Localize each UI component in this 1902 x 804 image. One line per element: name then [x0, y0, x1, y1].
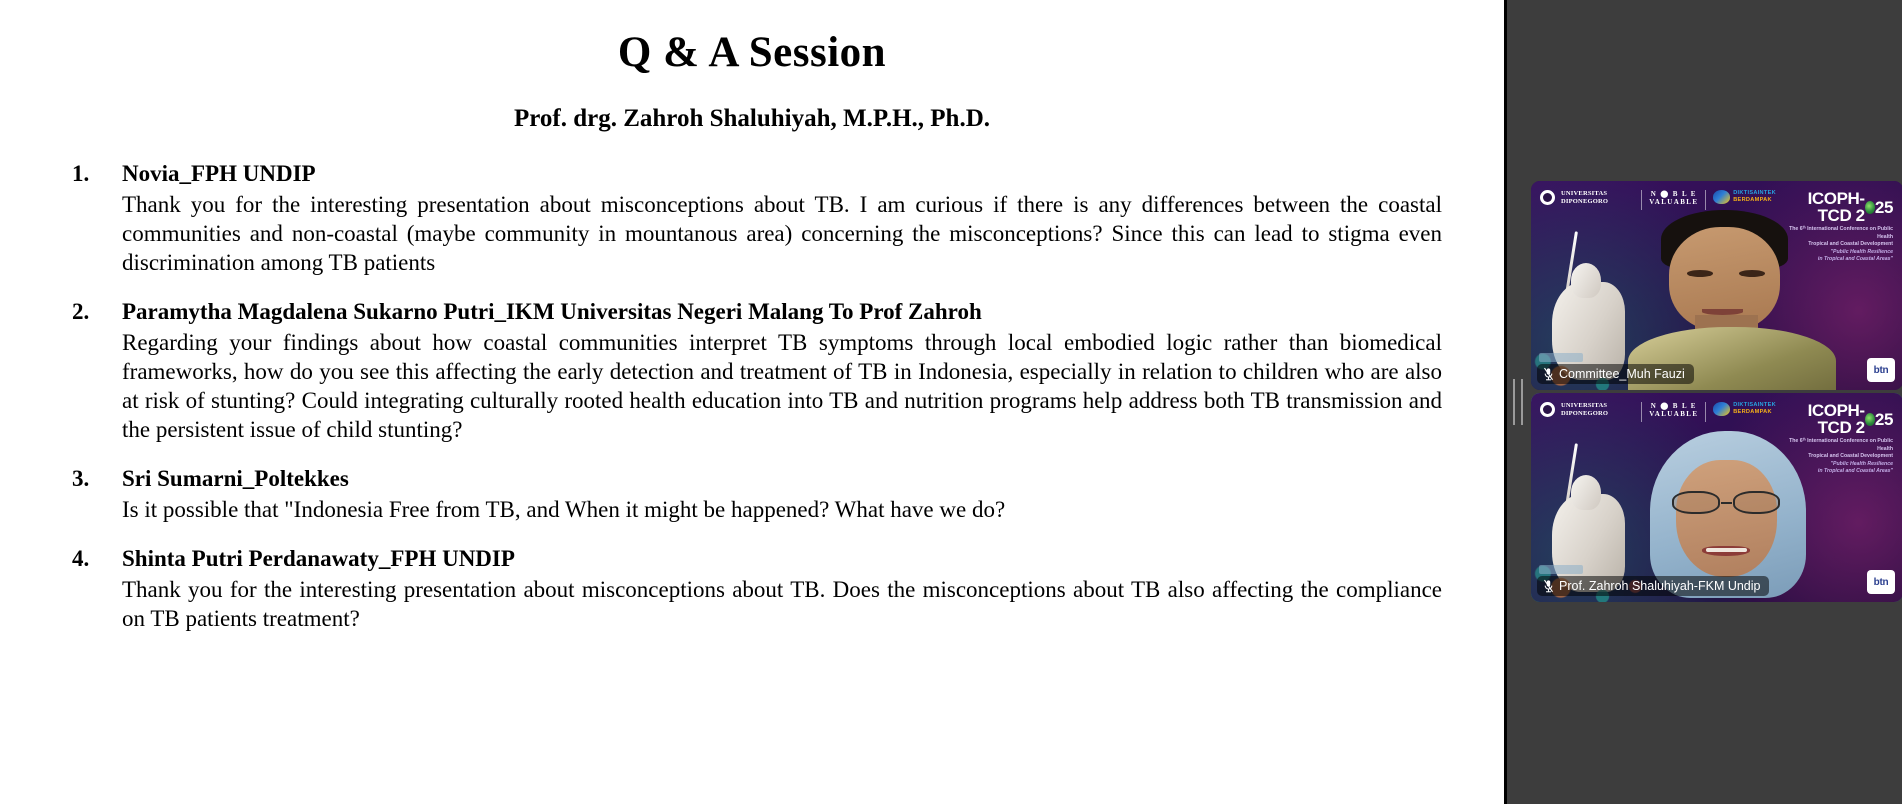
- participant-video-panel: UNIVERSITAS DIPONEGORO N ⬤ B L E VALUABL…: [1507, 0, 1902, 804]
- video-tile-speaker[interactable]: UNIVERSITAS DIPONEGORO N ⬤ B L E VALUABL…: [1531, 393, 1902, 602]
- page-subtitle: Prof. drg. Zahroh Shaluhiyah, M.P.H., Ph…: [62, 105, 1442, 133]
- participant-name: Prof. Zahroh Shaluhiyah-FKM Undip: [1559, 579, 1760, 593]
- question-asker: Paramytha Magdalena Sukarno Putri_IKM Un…: [122, 297, 1442, 327]
- panel-resize-handle[interactable]: [1513, 379, 1523, 425]
- video-tile-committee[interactable]: UNIVERSITAS DIPONEGORO N ⬤ B L E VALUABL…: [1531, 181, 1902, 390]
- list-item: 1. Novia_FPH UNDIP Thank you for the int…: [62, 159, 1442, 277]
- zoom-screen-share-window: Q & A Session Prof. drg. Zahroh Shaluhiy…: [0, 0, 1902, 804]
- participant-video-image: [1531, 181, 1902, 390]
- list-item: 2. Paramytha Magdalena Sukarno Putri_IKM…: [62, 297, 1442, 444]
- list-item: 3. Sri Sumarni_Poltekkes Is it possible …: [62, 464, 1442, 524]
- btn-watermark-logo: btn: [1867, 570, 1895, 594]
- question-asker: Shinta Putri Perdanawaty_FPH UNDIP: [122, 544, 1442, 574]
- question-asker: Novia_FPH UNDIP: [122, 159, 1442, 189]
- question-text: Thank you for the interesting presentati…: [122, 575, 1442, 633]
- question-asker: Sri Sumarni_Poltekkes: [122, 464, 1442, 494]
- question-number: 4.: [62, 544, 122, 574]
- participant-name: Committee_Muh Fauzi: [1559, 367, 1685, 381]
- participant-video-image: [1531, 393, 1902, 602]
- participant-name-label: Committee_Muh Fauzi: [1537, 364, 1694, 384]
- page-title: Q & A Session: [62, 28, 1442, 77]
- btn-watermark-logo: btn: [1867, 358, 1895, 382]
- question-number: 1.: [62, 159, 122, 189]
- question-list: 1. Novia_FPH UNDIP Thank you for the int…: [62, 159, 1442, 634]
- microphone-muted-icon: [1543, 579, 1554, 593]
- glasses-graphic: [1672, 491, 1780, 514]
- list-item: 4. Shinta Putri Perdanawaty_FPH UNDIP Th…: [62, 544, 1442, 633]
- overlay-chip: [1539, 565, 1583, 574]
- watermark-text: btn: [1874, 577, 1889, 588]
- question-text: Is it possible that "Indonesia Free from…: [122, 495, 1442, 524]
- question-text: Thank you for the interesting presentati…: [122, 190, 1442, 277]
- overlay-chip: [1539, 353, 1583, 362]
- shared-slide[interactable]: Q & A Session Prof. drg. Zahroh Shaluhiy…: [0, 0, 1504, 804]
- video-tile-strip: UNIVERSITAS DIPONEGORO N ⬤ B L E VALUABL…: [1531, 181, 1902, 605]
- watermark-text: btn: [1874, 365, 1889, 376]
- question-number: 2.: [62, 297, 122, 327]
- question-number: 3.: [62, 464, 122, 494]
- question-text: Regarding your findings about how coasta…: [122, 328, 1442, 444]
- participant-name-label: Prof. Zahroh Shaluhiyah-FKM Undip: [1537, 576, 1769, 596]
- microphone-muted-icon: [1543, 367, 1554, 381]
